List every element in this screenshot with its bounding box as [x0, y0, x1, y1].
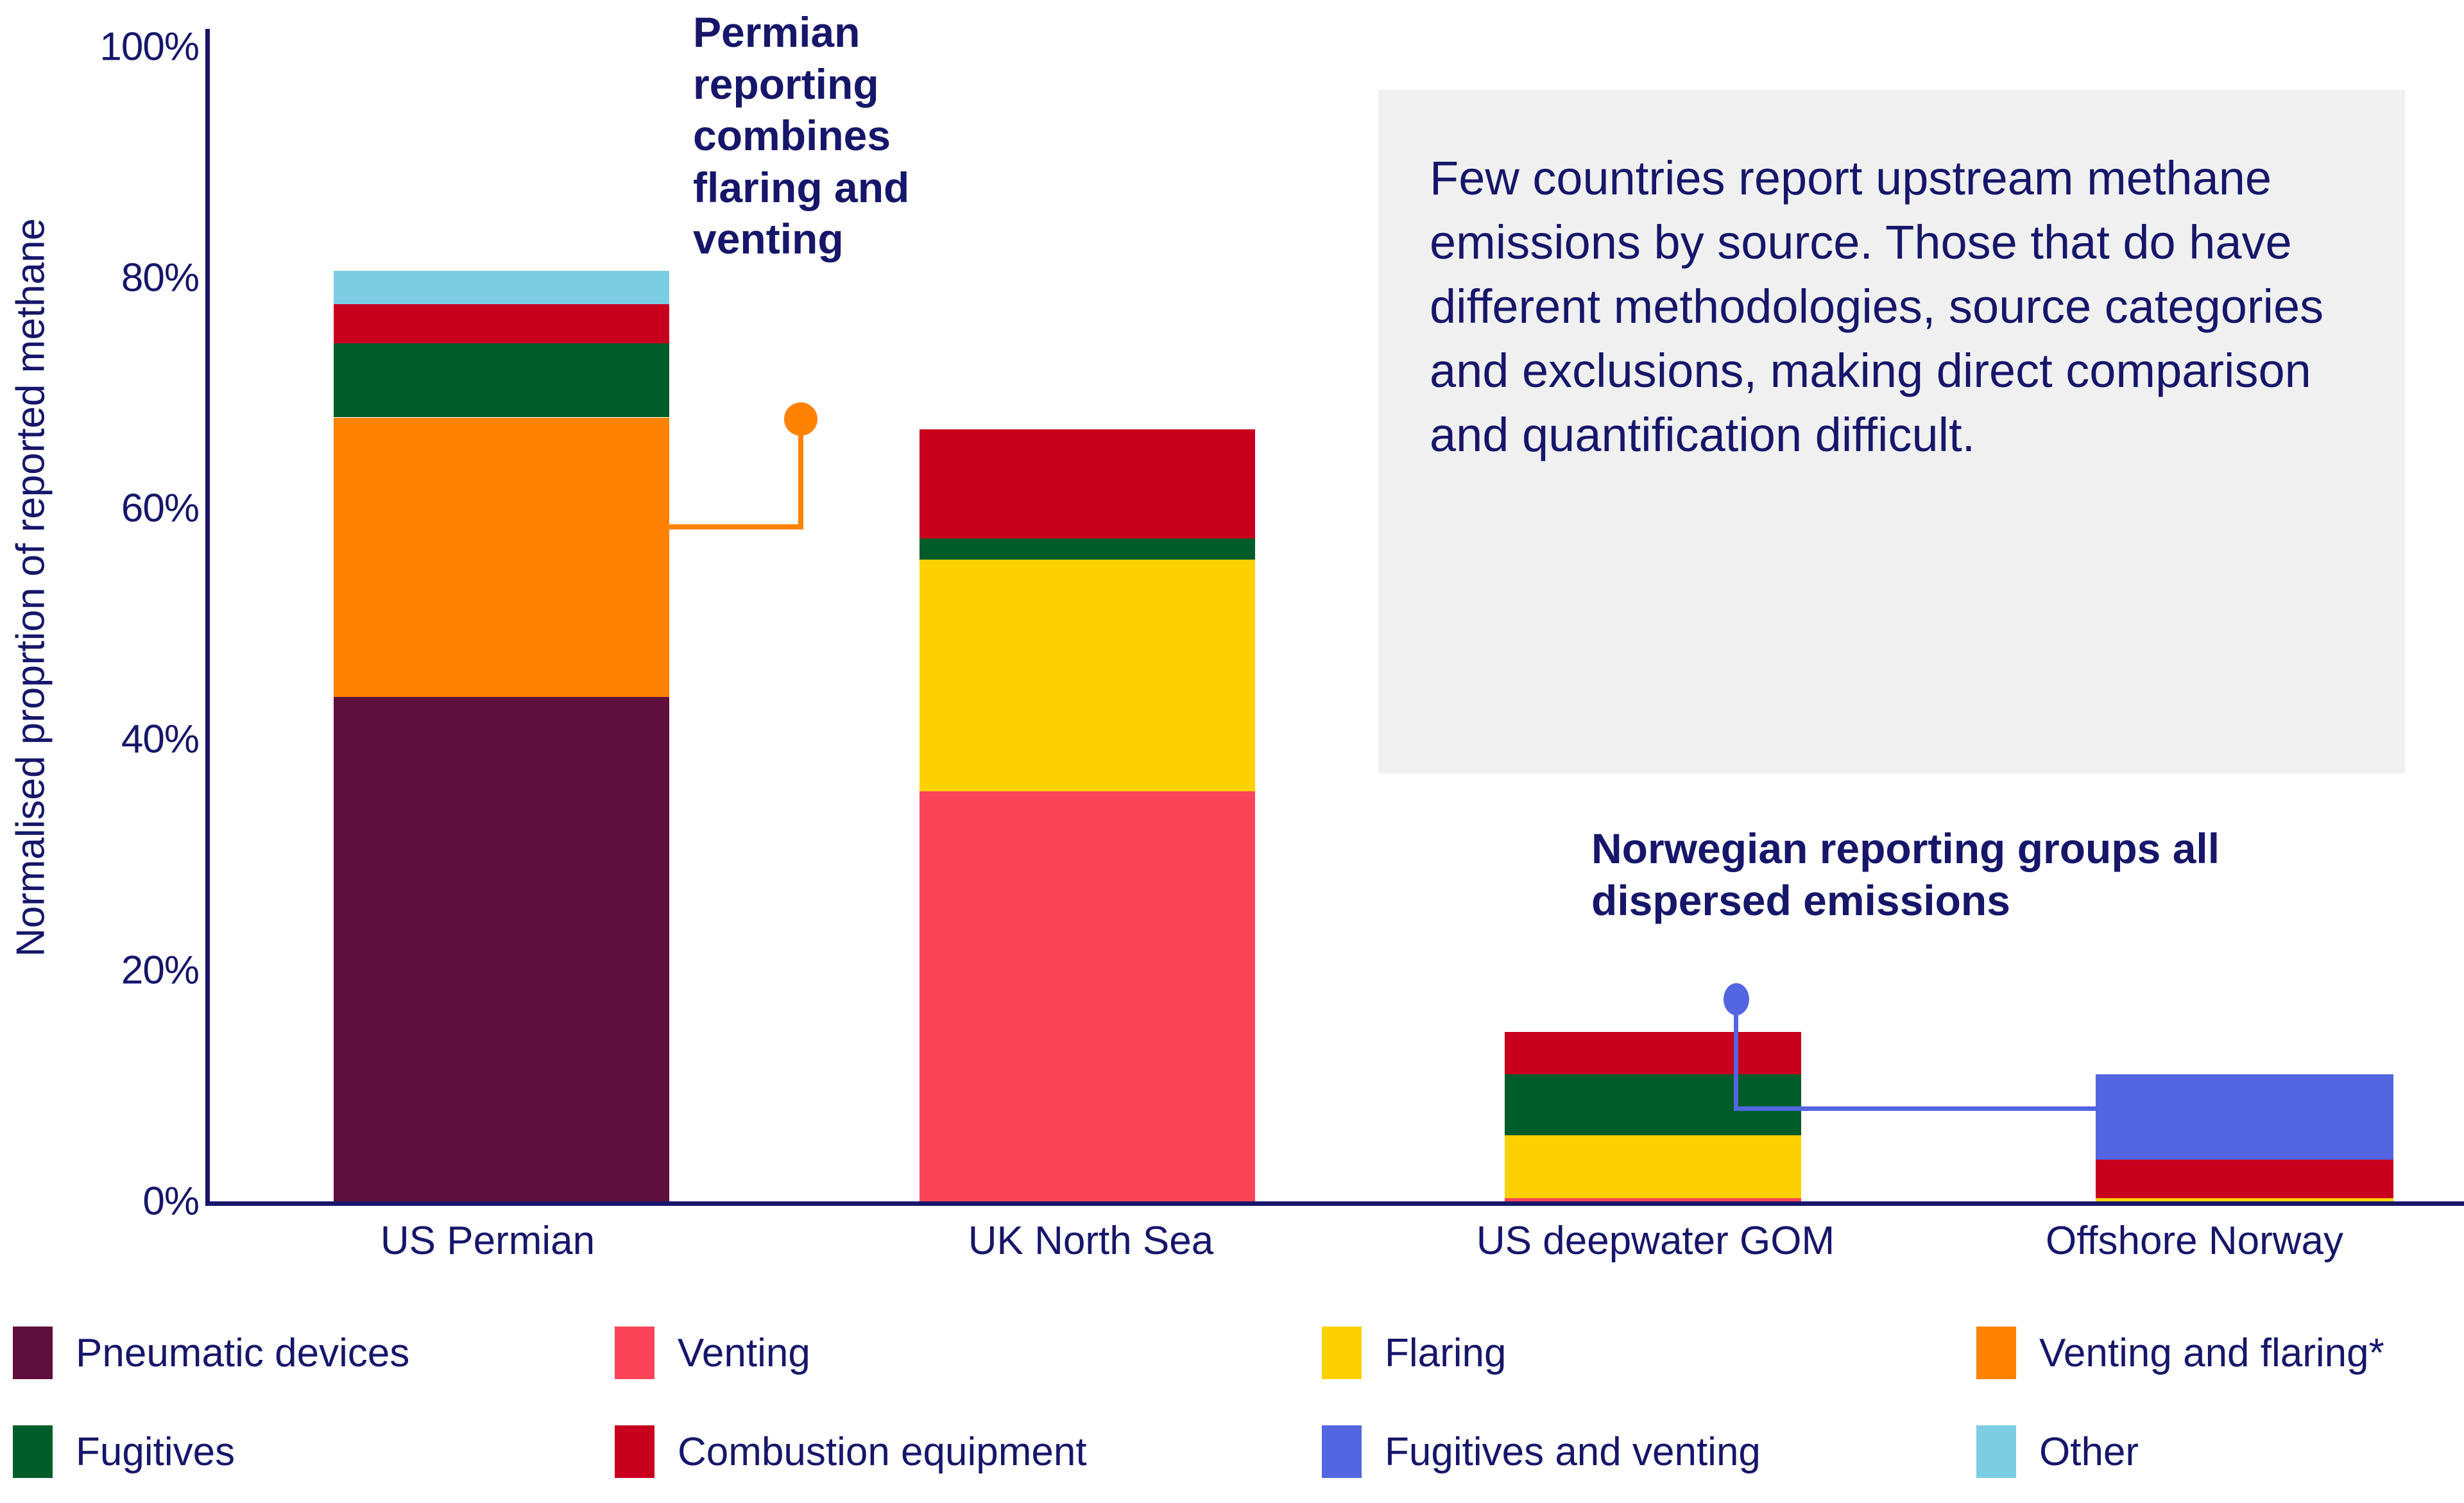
legend-swatch-combustion-equipment: [615, 1425, 654, 1478]
legend-swatch-other: [1976, 1425, 2016, 1478]
segment-flaring[interactable]: [2096, 1198, 2393, 1201]
segment-fugitives[interactable]: [1505, 1074, 1801, 1135]
y-axis-label: Normalised proprtion of reported methane: [8, 10, 54, 1165]
legend: Pneumatic devices Venting Flaring Ventin…: [0, 1312, 2464, 1499]
callout-text: Few countries report upstream methane em…: [1430, 146, 2386, 467]
annotation-permian-leader-horizontal: [667, 524, 803, 529]
segment-flaring[interactable]: [1505, 1135, 1801, 1198]
legend-swatch-venting-and-flaring: [1976, 1327, 2016, 1379]
annotation-norway-leader-horizontal: [1734, 1106, 2100, 1111]
legend-item-other[interactable]: Other: [1976, 1425, 2139, 1478]
segment-venting[interactable]: [920, 791, 1255, 1201]
legend-label-combustion-equipment: Combustion equipment: [678, 1429, 1087, 1475]
segment-other[interactable]: [334, 271, 669, 304]
legend-label-fugitives: Fugitives: [76, 1429, 235, 1475]
bar-uk-north-sea[interactable]: [920, 429, 1255, 1201]
segment-fugitives[interactable]: [334, 343, 669, 417]
legend-item-fugitives[interactable]: Fugitives: [13, 1425, 235, 1478]
legend-item-combustion-equipment[interactable]: Combustion equipment: [615, 1425, 1087, 1478]
annotation-norway-dot: [1724, 983, 1749, 1015]
legend-label-flaring: Flaring: [1385, 1330, 1507, 1376]
x-label-us-deepwater-gom: US deepwater GOM: [1335, 1218, 1976, 1264]
segment-combustion-equipment[interactable]: [920, 429, 1255, 539]
segment-combustion-equipment[interactable]: [334, 304, 669, 343]
annotation-permian: Permian reporting combines flaring and v…: [693, 6, 1027, 265]
legend-swatch-pneumatic-devices: [13, 1327, 53, 1379]
annotation-norway-leader-vertical: [1734, 1013, 1738, 1110]
legend-item-fugitives-and-venting[interactable]: Fugitives and venting: [1322, 1425, 1761, 1478]
bar-offshore-norway[interactable]: [2096, 1074, 2393, 1201]
segment-fugitives[interactable]: [920, 538, 1255, 559]
legend-label-venting: Venting: [678, 1330, 810, 1376]
bar-us-permian[interactable]: [334, 89, 669, 1201]
x-axis-line: [205, 1201, 2464, 1206]
legend-swatch-fugitives: [13, 1425, 53, 1478]
x-label-us-permian: US Permian: [167, 1218, 809, 1264]
segment-flaring[interactable]: [920, 560, 1255, 792]
segment-combustion-equipment[interactable]: [2096, 1160, 2393, 1198]
segment-fugitives-and-venting[interactable]: [2096, 1074, 2393, 1160]
legend-swatch-venting: [615, 1327, 654, 1379]
legend-label-pneumatic-devices: Pneumatic devices: [76, 1330, 409, 1376]
legend-item-venting[interactable]: Venting: [615, 1327, 810, 1379]
y-tick-0: 0%: [0, 1179, 199, 1224]
x-label-uk-north-sea: UK North Sea: [770, 1218, 1412, 1264]
annotation-norway: Norwegian reporting groups all dispersed…: [1591, 823, 2419, 926]
legend-swatch-fugitives-and-venting: [1322, 1425, 1362, 1478]
annotation-permian-leader-vertical: [798, 431, 803, 529]
legend-swatch-flaring: [1322, 1327, 1362, 1379]
legend-item-venting-and-flaring[interactable]: Venting and flaring*: [1976, 1327, 2384, 1379]
segment-combustion-equipment[interactable]: [1505, 1032, 1801, 1075]
legend-label-fugitives-and-venting: Fugitives and venting: [1385, 1429, 1761, 1475]
segment-pneumatic-devices[interactable]: [334, 697, 669, 1201]
segment-venting-and-flaring[interactable]: [334, 418, 669, 697]
legend-item-flaring[interactable]: Flaring: [1322, 1327, 1507, 1379]
bar-us-deepwater-gom[interactable]: [1505, 1032, 1801, 1201]
legend-label-other: Other: [2039, 1429, 2139, 1475]
legend-item-pneumatic-devices[interactable]: Pneumatic devices: [13, 1327, 409, 1379]
segment-venting[interactable]: [1505, 1198, 1801, 1201]
x-label-offshore-norway: Offshore Norway: [1919, 1218, 2464, 1264]
legend-label-venting-and-flaring: Venting and flaring*: [2039, 1330, 2384, 1376]
